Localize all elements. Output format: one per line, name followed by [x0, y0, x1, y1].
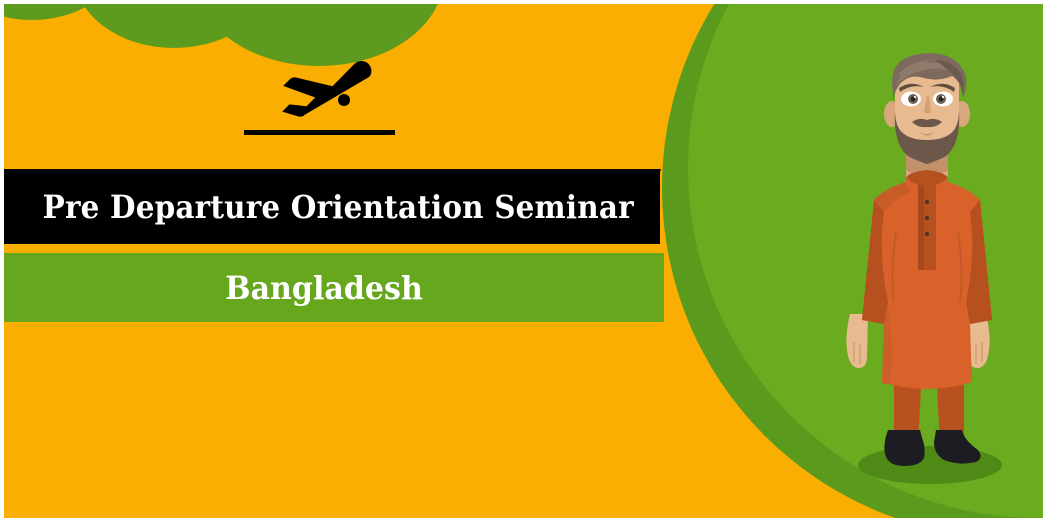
character-ground-shadow [858, 446, 1002, 484]
page-subtitle: Bangladesh [23, 253, 625, 322]
banner-frame: Pre Departure Orientation Seminar Bangla… [4, 4, 1043, 518]
banner-image: Pre Departure Orientation Seminar Bangla… [0, 0, 1047, 522]
airplane-takeoff-icon [236, 59, 376, 119]
standing-man-illustration [832, 52, 1022, 502]
page-title: Pre Departure Orientation Seminar [4, 169, 556, 244]
runway-line [244, 130, 395, 135]
